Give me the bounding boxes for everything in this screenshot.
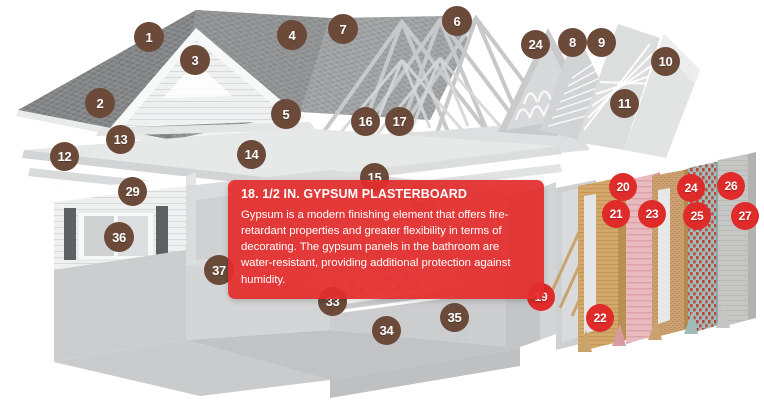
- marker-29[interactable]: 29: [118, 177, 147, 206]
- marker-26[interactable]: 26: [717, 172, 745, 200]
- marker-27[interactable]: 27: [731, 202, 759, 230]
- marker-11[interactable]: 11: [610, 89, 639, 118]
- marker-3[interactable]: 3: [180, 45, 210, 75]
- marker-17[interactable]: 17: [385, 107, 414, 136]
- marker-23[interactable]: 23: [638, 200, 666, 228]
- construction-diagram: 1234567891011121314151617192021222324242…: [0, 0, 764, 409]
- marker-1[interactable]: 1: [134, 22, 164, 52]
- marker-21[interactable]: 21: [602, 200, 630, 228]
- marker-8[interactable]: 8: [558, 28, 587, 57]
- marker-36[interactable]: 36: [104, 222, 134, 252]
- info-tooltip[interactable]: 18. 1/2 IN. GYPSUM PLASTERBOARD Gypsum i…: [228, 180, 544, 299]
- marker-13[interactable]: 13: [106, 125, 135, 154]
- marker-2[interactable]: 2: [85, 88, 115, 118]
- marker-14[interactable]: 14: [237, 140, 266, 169]
- tooltip-body: Gypsum is a modern finishing element tha…: [241, 207, 531, 288]
- marker-12[interactable]: 12: [50, 142, 79, 171]
- marker-9[interactable]: 9: [587, 28, 616, 57]
- marker-35[interactable]: 35: [440, 303, 469, 332]
- marker-22[interactable]: 22: [586, 304, 614, 332]
- marker-10[interactable]: 10: [651, 47, 680, 76]
- marker-20[interactable]: 20: [609, 173, 637, 201]
- marker-24b[interactable]: 24: [677, 174, 705, 202]
- tooltip-title: 18. 1/2 IN. GYPSUM PLASTERBOARD: [241, 188, 531, 202]
- marker-34[interactable]: 34: [372, 316, 401, 345]
- marker-5[interactable]: 5: [271, 99, 301, 129]
- marker-6[interactable]: 6: [442, 6, 472, 36]
- marker-4[interactable]: 4: [277, 20, 307, 50]
- marker-24[interactable]: 24: [521, 30, 550, 59]
- marker-7[interactable]: 7: [328, 14, 358, 44]
- marker-25[interactable]: 25: [683, 202, 711, 230]
- marker-16[interactable]: 16: [351, 107, 380, 136]
